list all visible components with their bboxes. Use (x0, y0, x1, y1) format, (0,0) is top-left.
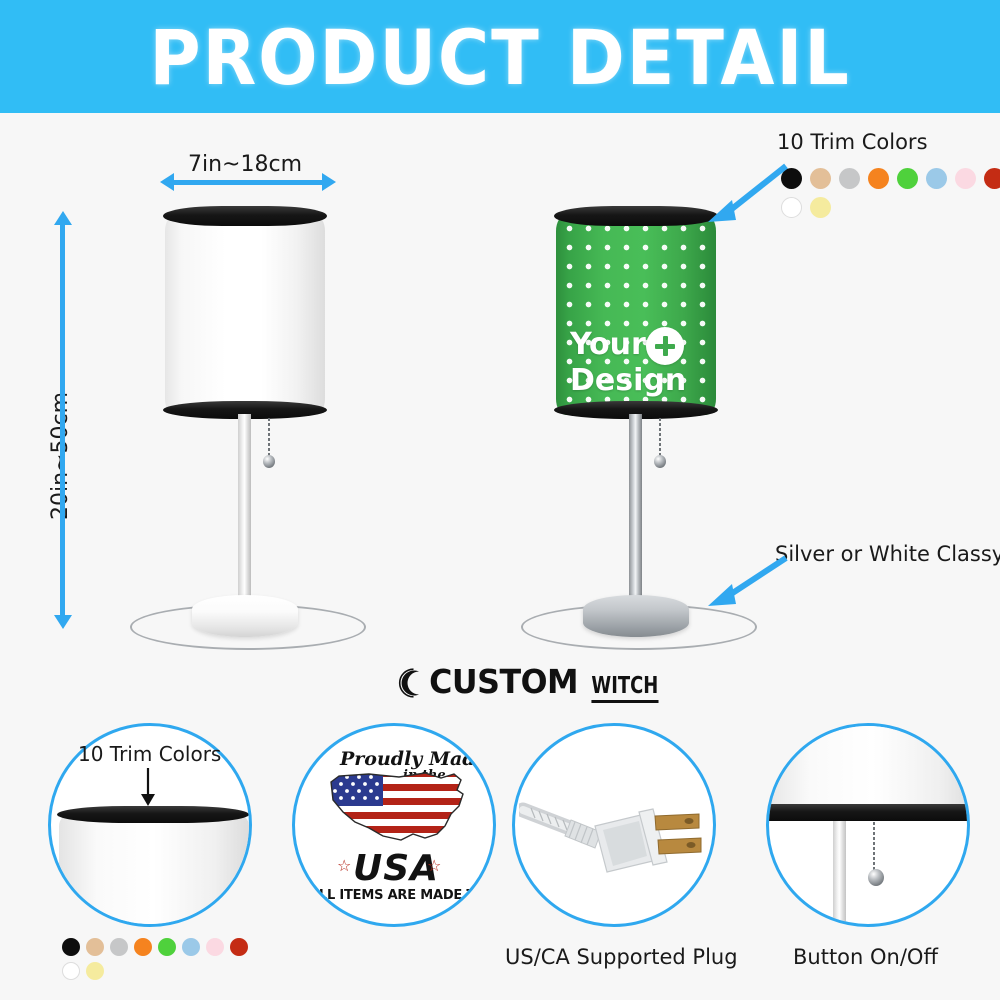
star-icon-right: ☆ (427, 856, 441, 875)
c-swirl-icon (395, 666, 429, 700)
lampshade-white (165, 215, 325, 415)
trim-swatch-light-blue[interactable] (182, 938, 200, 956)
down-arrow-icon (137, 768, 159, 812)
pull-chain-ball-closeup[interactable] (868, 869, 884, 886)
feature-circle-switch (766, 723, 970, 927)
lamp-pole-closeup (833, 821, 846, 927)
trim-swatch-red[interactable] (984, 168, 1000, 189)
trim-swatch-white[interactable] (62, 962, 80, 980)
pull-chain-ball-custom[interactable] (654, 455, 666, 468)
trim-swatch-pink[interactable] (955, 168, 976, 189)
pull-chain[interactable] (268, 418, 270, 460)
trim-swatch-green[interactable] (158, 938, 176, 956)
trim-swatch-gray[interactable] (839, 168, 860, 189)
trim-colors-callout-label: 10 Trim Colors (777, 130, 928, 154)
lamp-base-white (192, 595, 298, 637)
header-banner: PRODUCT DETAIL (0, 0, 1000, 113)
trim-swatch-light-blue[interactable] (926, 168, 947, 189)
product-detail-page: PRODUCT DETAIL 10 Trim Colors 7in~18cm 2… (0, 0, 1000, 1000)
shade-fragment (59, 814, 249, 927)
feature-circle-plug (512, 723, 716, 927)
trim-swatch-yellow[interactable] (810, 197, 831, 218)
brand-name-bold: CUSTOM (429, 662, 578, 701)
feature-caption-plug: US/CA Supported Plug (505, 945, 738, 969)
trim-swatch-green[interactable] (897, 168, 918, 189)
brand-logo: CUSTOM WITCH (395, 662, 668, 703)
us-map-flag-icon (321, 764, 473, 850)
trim-swatch-tan[interactable] (86, 938, 104, 956)
page-title: PRODUCT DETAIL (40, 18, 960, 98)
pull-chain-ball[interactable] (263, 455, 275, 468)
feature-caption-switch: Button On/Off (793, 945, 938, 969)
trim-callout-arrow (700, 160, 790, 230)
lamp-trim-top-custom (554, 206, 718, 226)
shade-bottom-fragment (766, 723, 970, 806)
pull-chain-custom[interactable] (659, 418, 661, 460)
usa-badge-tagline: ALL ITEMS ARE MADE TO ORDER! (309, 888, 496, 903)
lamp-base-silver (583, 595, 689, 637)
trim-colors-swatch-row-bottom[interactable] (62, 938, 262, 980)
trim-swatch-black[interactable] (62, 938, 80, 956)
lampshade-custom[interactable]: Your Design (556, 215, 716, 415)
trim-swatch-orange[interactable] (868, 168, 889, 189)
trim-swatch-gray[interactable] (110, 938, 128, 956)
power-plug-icon (519, 774, 715, 884)
shade-text-line1: Your (570, 327, 646, 363)
lamp-pole-silver (629, 414, 642, 604)
pull-chain-closeup[interactable] (873, 822, 875, 874)
trim-swatch-tan[interactable] (810, 168, 831, 189)
width-dimension-label: 7in~18cm (188, 152, 302, 177)
lamp-pole (238, 414, 251, 604)
shade-text-line2: Design (570, 363, 686, 399)
base-finish-label: Silver or White Classy (775, 542, 1000, 566)
brand-name-light: WITCH (592, 673, 659, 703)
trim-swatch-orange[interactable] (134, 938, 152, 956)
star-icon-left: ☆ (337, 856, 351, 875)
trim-swatch-pink[interactable] (206, 938, 224, 956)
trim-ring-switch-closeup (766, 804, 970, 821)
feature-label-trim-colors: 10 Trim Colors (78, 742, 221, 766)
trim-swatch-yellow[interactable] (86, 962, 104, 980)
plus-icon[interactable] (646, 327, 684, 365)
feature-circle-made-in-usa: Proudly Made in the (292, 723, 496, 927)
trim-swatch-red[interactable] (230, 938, 248, 956)
trim-colors-swatch-row-top[interactable] (781, 168, 1000, 218)
lamp-trim-top (163, 206, 327, 226)
base-finish-arrow (700, 552, 790, 612)
